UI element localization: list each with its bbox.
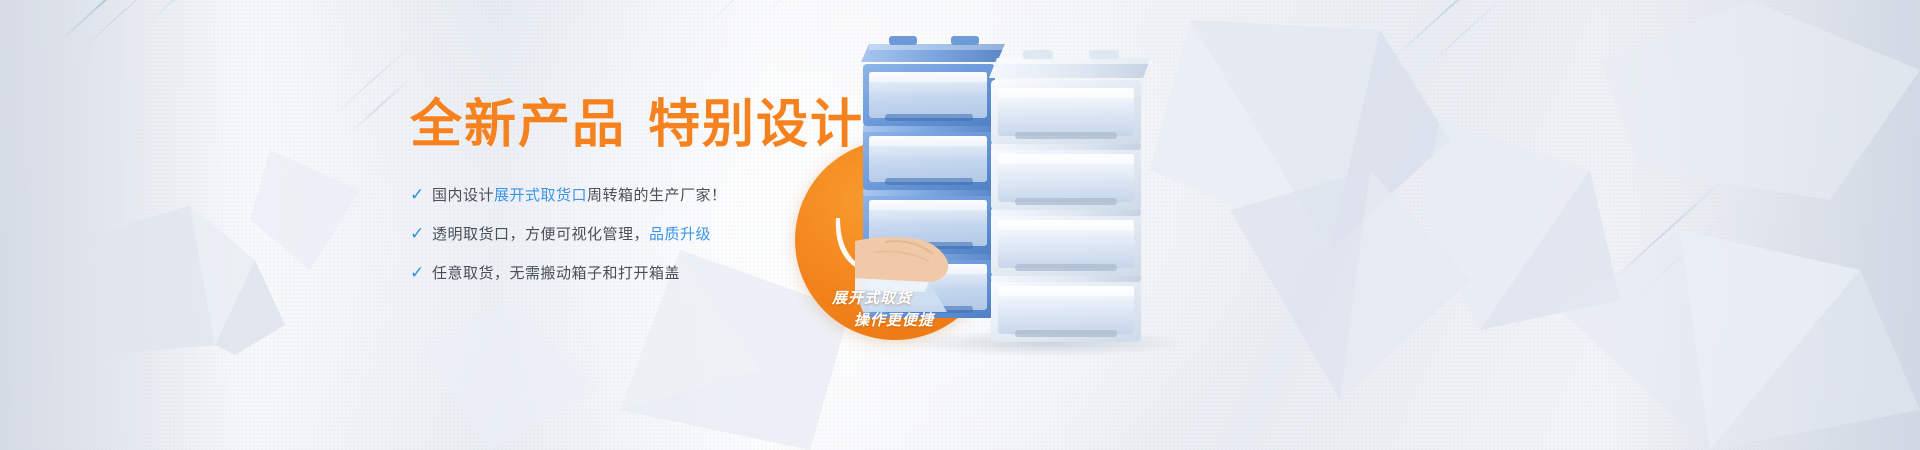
list-item: ✓ 国内设计展开式取货口周转箱的生产厂家！ xyxy=(410,184,970,205)
bullet-segment-highlight: 品质升级 xyxy=(649,226,711,243)
decor-polygon xyxy=(1600,0,1920,200)
badge-caption: 展开式取货 操作更便捷 xyxy=(832,288,934,332)
bullet-segment: 透明取货口，方便可视化管理， xyxy=(432,226,649,243)
banner-copy: 全新产品特别设计 ✓ 国内设计展开式取货口周转箱的生产厂家！ ✓ 透明取货口，方… xyxy=(410,96,970,301)
badge-caption-line-1: 展开式取货 xyxy=(832,290,912,307)
check-icon: ✓ xyxy=(410,186,432,203)
list-item: ✓ 透明取货口，方便可视化管理，品质升级 xyxy=(410,223,970,244)
decor-polygon xyxy=(420,300,600,450)
bullet-text: 国内设计展开式取货口周转箱的生产厂家！ xyxy=(432,184,727,205)
decor-polygon xyxy=(1560,230,1920,450)
decor-polygon xyxy=(250,150,370,270)
bullet-segment: 周转箱的生产厂家！ xyxy=(587,187,727,204)
bullet-segment: 任意取货，无需搬动箱子和打开箱盖 xyxy=(432,265,680,282)
list-item: ✓ 任意取货，无需搬动箱子和打开箱盖 xyxy=(410,262,970,283)
headline-part-2: 特别设计 xyxy=(648,96,864,154)
feature-bullet-list: ✓ 国内设计展开式取货口周转箱的生产厂家！ ✓ 透明取货口，方便可视化管理，品质… xyxy=(410,184,970,283)
check-icon: ✓ xyxy=(410,264,432,281)
bullet-segment: 国内设计 xyxy=(432,187,494,204)
promo-banner: 全新产品特别设计 ✓ 国内设计展开式取货口周转箱的生产厂家！ ✓ 透明取货口，方… xyxy=(0,0,1920,450)
bullet-text: 透明取货口，方便可视化管理，品质升级 xyxy=(432,223,711,244)
bullet-text: 任意取货，无需搬动箱子和打开箱盖 xyxy=(432,262,680,283)
bullet-segment-highlight: 展开式取货口 xyxy=(494,187,587,204)
banner-headline: 全新产品特别设计 xyxy=(410,96,970,156)
headline-part-1: 全新产品 xyxy=(410,96,626,154)
check-icon: ✓ xyxy=(410,225,432,242)
badge-caption-line-2: 操作更便捷 xyxy=(832,310,934,332)
